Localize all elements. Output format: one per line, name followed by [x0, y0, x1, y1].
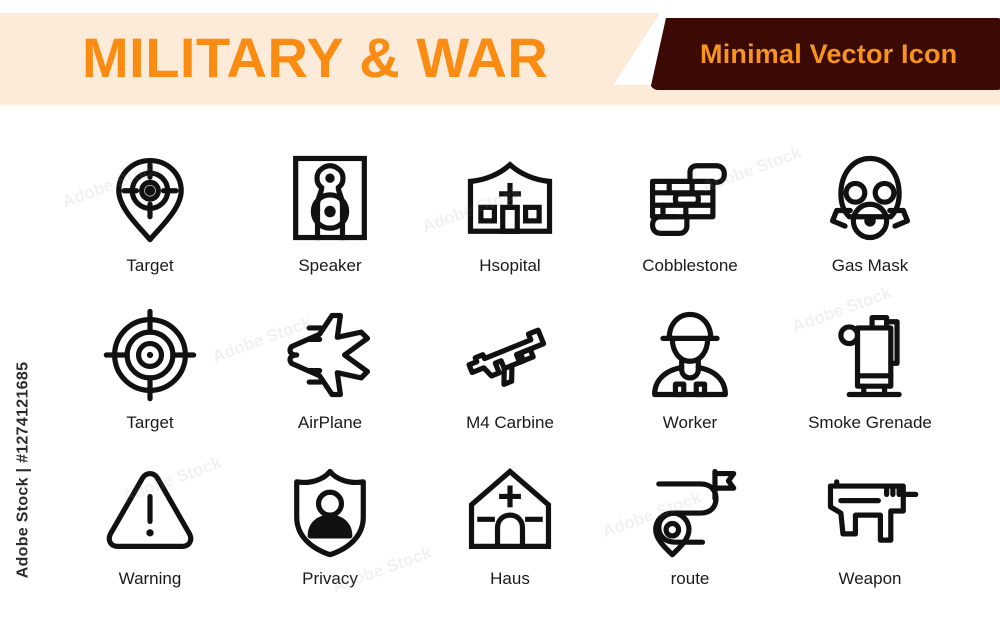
house-cross-icon[interactable] — [458, 459, 562, 563]
icon-label: Haus — [490, 569, 530, 589]
icon-cell-cobblestone[interactable]: Cobblestone — [600, 140, 780, 297]
worker-person-icon[interactable] — [638, 303, 742, 407]
icon-cell-crosshair-target[interactable]: Target — [60, 297, 240, 454]
icon-cell-haus[interactable]: Haus — [420, 453, 600, 610]
icon-cell-warning[interactable]: Warning — [60, 453, 240, 610]
gas-mask-icon[interactable] — [818, 146, 922, 250]
icon-label: route — [671, 569, 710, 589]
icon-cell-privacy[interactable]: Privacy — [240, 453, 420, 610]
icon-label: Gas Mask — [832, 256, 909, 276]
warning-triangle-icon[interactable] — [98, 459, 202, 563]
icon-cell-speaker[interactable]: Speaker — [240, 140, 420, 297]
icon-label: Warning — [119, 569, 182, 589]
shooting-target-frame-icon[interactable] — [278, 146, 382, 250]
icon-label: M4 Carbine — [466, 413, 554, 433]
icon-cell-hospital[interactable]: Hsopital — [420, 140, 600, 297]
icon-label: Target — [126, 413, 173, 433]
icon-cell-gas-mask[interactable]: Gas Mask — [780, 140, 960, 297]
icon-label: Privacy — [302, 569, 358, 589]
icon-cell-airplane[interactable]: AirPlane — [240, 297, 420, 454]
icon-label: Worker — [663, 413, 717, 433]
shield-person-icon[interactable] — [278, 459, 382, 563]
target-pin-icon[interactable] — [98, 146, 202, 250]
page-title: MILITARY & WAR — [82, 25, 548, 90]
icon-cell-target-pin[interactable]: Target — [60, 140, 240, 297]
hospital-building-icon[interactable] — [458, 146, 562, 250]
icon-cell-weapon[interactable]: Weapon — [780, 453, 960, 610]
icon-cell-worker[interactable]: Worker — [600, 297, 780, 454]
crosshair-target-icon[interactable] — [98, 303, 202, 407]
icon-cell-rifle[interactable]: M4 Carbine — [420, 297, 600, 454]
rifle-icon[interactable] — [458, 303, 562, 407]
header-badge-label: Minimal Vector Icon — [700, 18, 1000, 90]
icon-label: Weapon — [838, 569, 901, 589]
page-header: MILITARY & WAR Minimal Vector Icon — [0, 13, 1000, 105]
stock-attribution-text: Adobe Stock | #1274121685 — [14, 362, 32, 579]
cobblestone-bricks-icon[interactable] — [638, 146, 742, 250]
route-pin-flag-icon[interactable] — [638, 459, 742, 563]
icon-cell-smoke-grenade[interactable]: Smoke Grenade — [780, 297, 960, 454]
icon-grid: Target Speaker — [60, 140, 960, 610]
icon-label: Speaker — [298, 256, 361, 276]
icon-set-page: MILITARY & WAR Minimal Vector Icon Adobe… — [0, 0, 1000, 625]
icon-label: Cobblestone — [642, 256, 737, 276]
submachine-gun-icon[interactable] — [818, 459, 922, 563]
icon-label: Smoke Grenade — [808, 413, 932, 433]
icon-label: AirPlane — [298, 413, 362, 433]
airplane-icon[interactable] — [278, 303, 382, 407]
icon-cell-route[interactable]: route — [600, 453, 780, 610]
icon-label: Hsopital — [479, 256, 540, 276]
smoke-grenade-icon[interactable] — [818, 303, 922, 407]
stock-attribution: Adobe Stock | #1274121685 — [10, 345, 36, 595]
icon-label: Target — [126, 256, 173, 276]
